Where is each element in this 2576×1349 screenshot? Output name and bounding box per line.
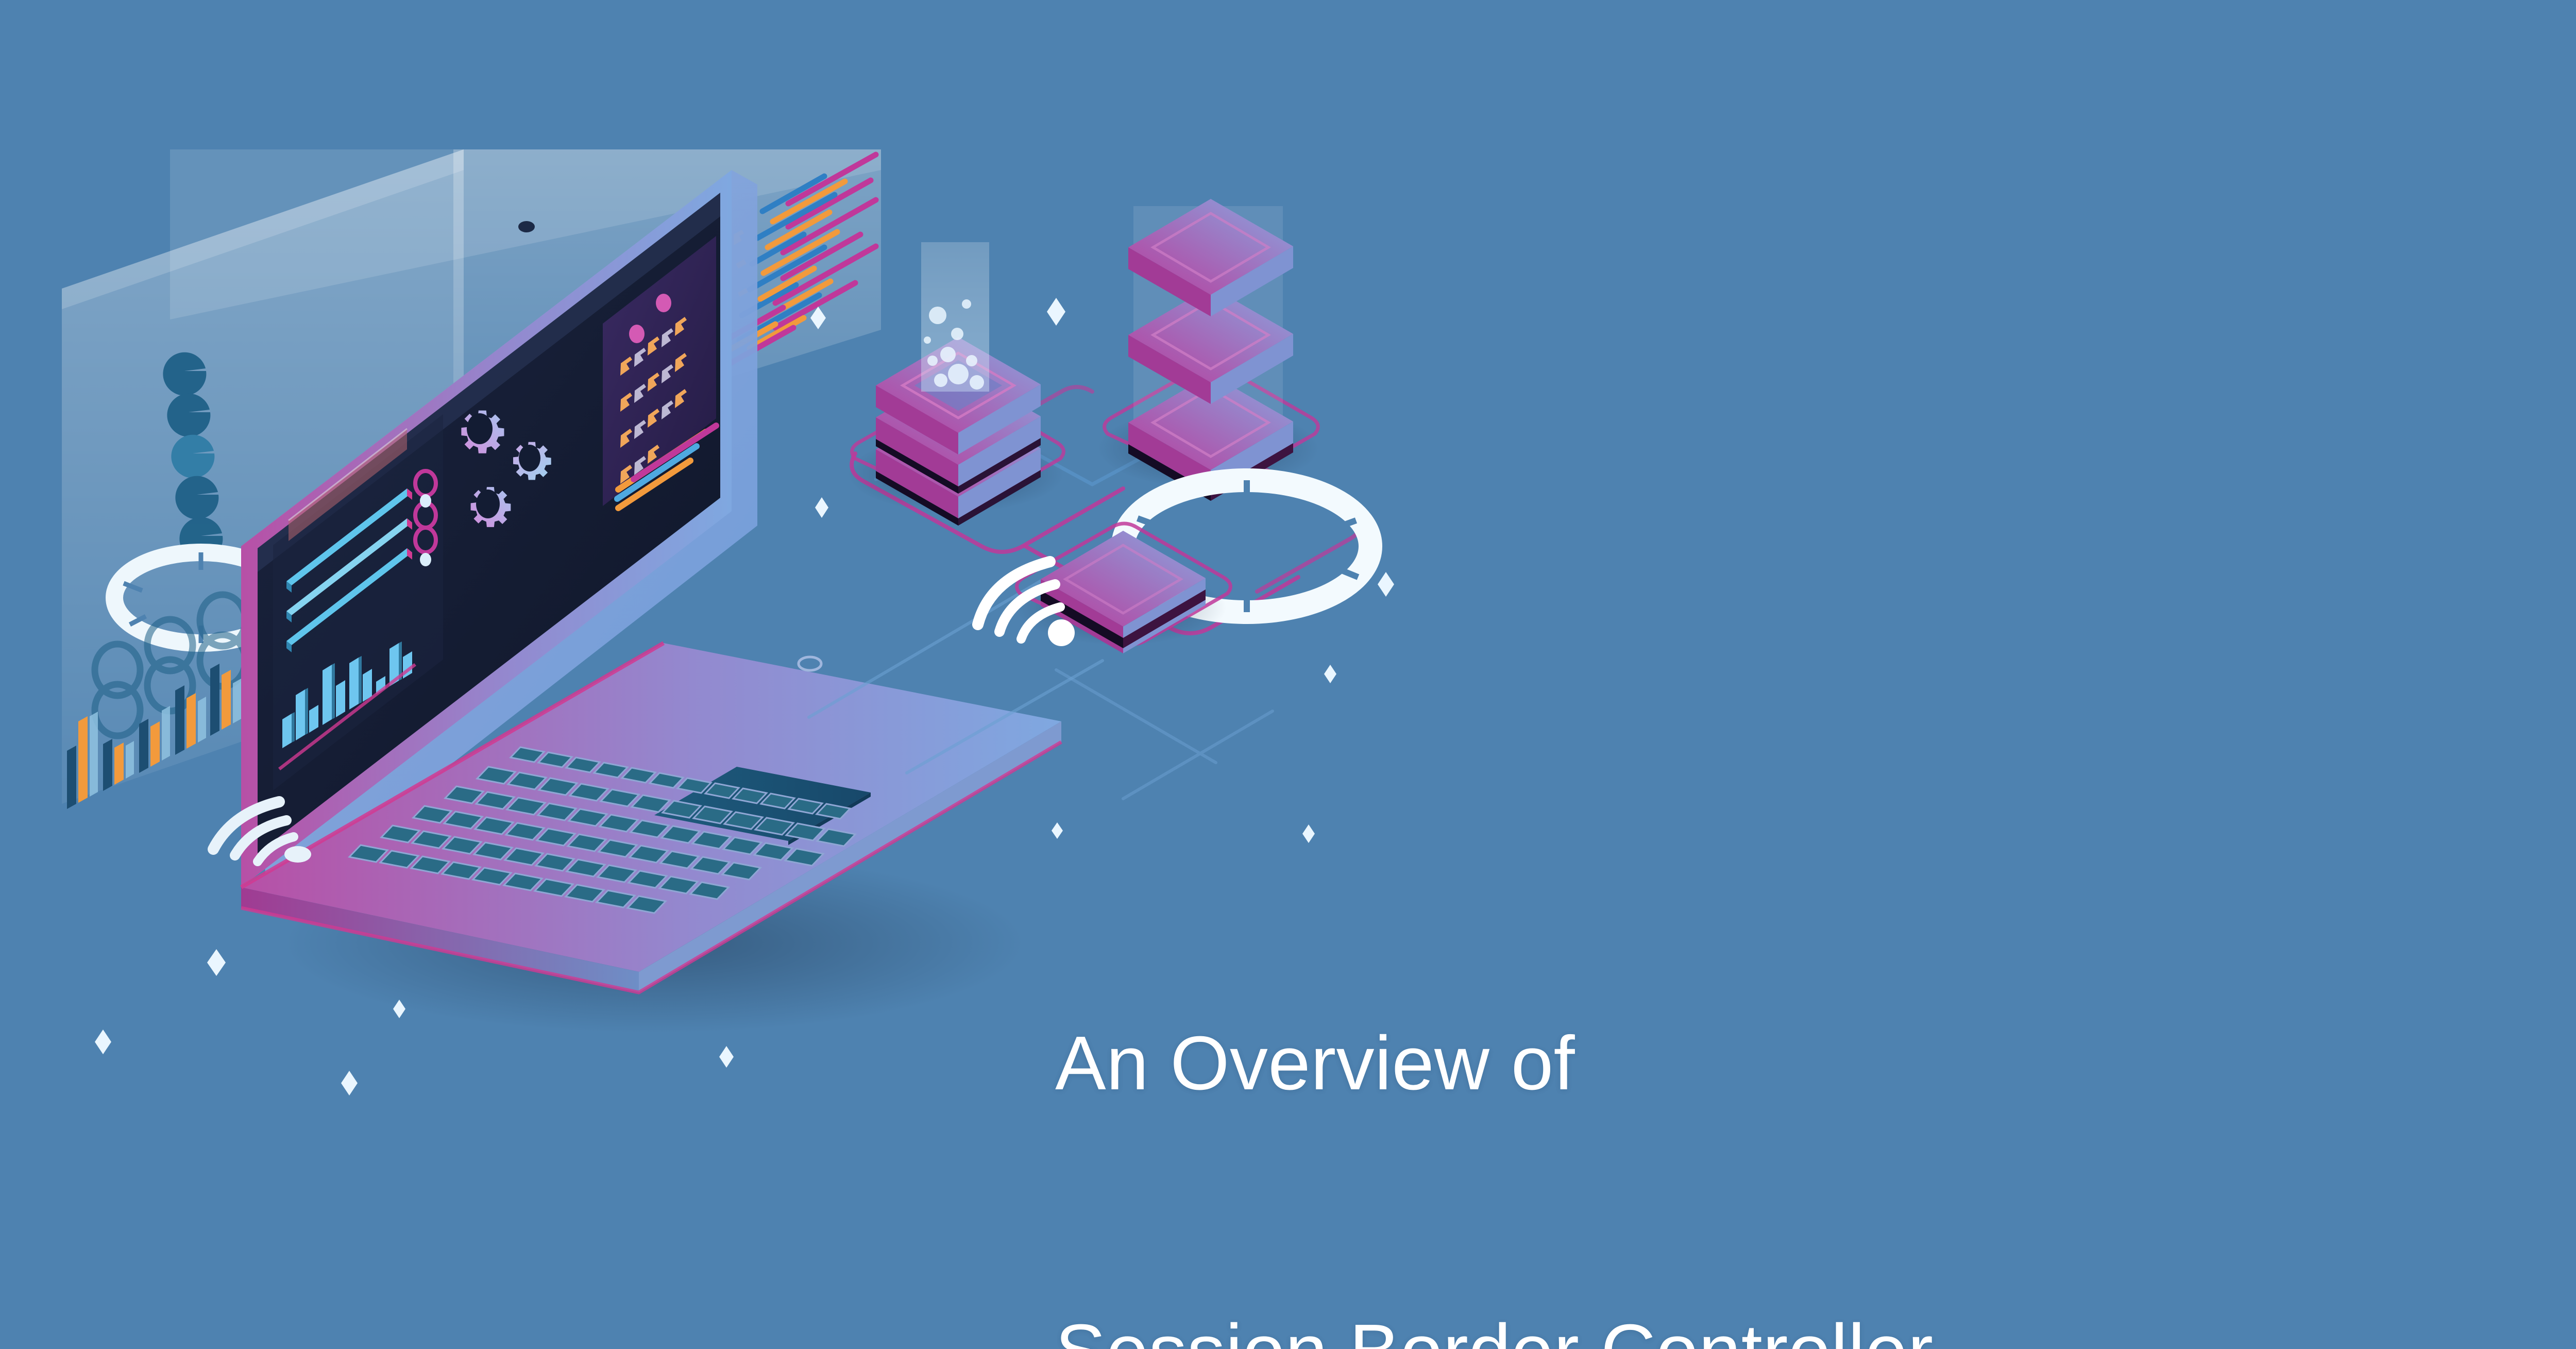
page-title-line-1: An Overview of <box>1055 1016 1934 1111</box>
wifi-dot-server <box>1048 619 1075 646</box>
bubble-column <box>921 242 989 392</box>
hero-banner: An Overview of Session Border Controller <box>0 0 2576 1349</box>
page-title-line-2: Session Border Controller <box>1055 1304 1934 1349</box>
server-tower <box>1097 199 1319 501</box>
page-title: An Overview of Session Border Controller <box>1055 823 1934 1349</box>
wifi-dot <box>284 846 311 863</box>
server-front <box>978 480 1370 653</box>
